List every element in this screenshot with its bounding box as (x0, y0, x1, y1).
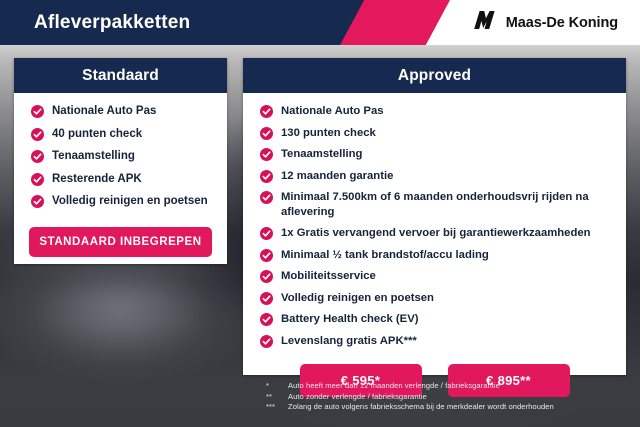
check-circle-icon (260, 292, 273, 305)
feature-label: Minimaal ½ tank brandstof/accu lading (281, 248, 489, 263)
package-title-standaard: Standaard (14, 58, 227, 93)
check-circle-icon (31, 128, 44, 141)
list-item: 130 punten check (260, 126, 616, 141)
feature-list-standaard: Nationale Auto Pas 40 punten check (14, 104, 227, 209)
list-item: Tenaamstelling (260, 147, 616, 162)
footnotes: * Auto heeft meer dan 12 maanden verleng… (266, 381, 636, 413)
list-item: Nationale Auto Pas (260, 104, 616, 119)
brand-logo: Maas-De Koning (471, 0, 618, 45)
footnote-triple-asterisk: *** Zolang de auto volgens fabrieksschem… (266, 402, 636, 413)
footnote-double-asterisk: ** Auto zonder verlengde / fabrieksgaran… (266, 392, 636, 403)
list-item: Levenslang gratis APK*** (260, 334, 616, 349)
feature-label: Battery Health check (EV) (281, 312, 419, 327)
footnote-marker: * (266, 381, 288, 392)
check-circle-icon (31, 173, 44, 186)
list-item: 40 punten check (31, 127, 217, 142)
footnote-single-asterisk: * Auto heeft meer dan 12 maanden verleng… (266, 381, 636, 392)
check-circle-icon (260, 313, 273, 326)
check-circle-icon (260, 170, 273, 183)
package-body-standaard: Nationale Auto Pas 40 punten check (14, 93, 227, 257)
feature-label: 130 punten check (281, 126, 376, 141)
list-item: Mobiliteitsservice (260, 269, 616, 284)
list-item: Minimaal 7.500km of 6 maanden onderhouds… (260, 190, 616, 219)
footnote-marker: *** (266, 402, 288, 413)
check-circle-icon (260, 270, 273, 283)
list-item: 1x Gratis vervangend vervoer bij garanti… (260, 226, 616, 241)
brand-name: Maas-De Koning (506, 15, 618, 31)
list-item: Minimaal ½ tank brandstof/accu lading (260, 248, 616, 263)
list-item: Tenaamstelling (31, 149, 217, 164)
check-circle-icon (260, 127, 273, 140)
list-item: Resterende APK (31, 172, 217, 187)
page-title: Afleverpakketten (34, 0, 190, 45)
list-item: Volledig reinigen en poetsen (260, 291, 616, 306)
check-circle-icon (260, 191, 273, 204)
check-circle-icon (260, 105, 273, 118)
feature-label: 40 punten check (52, 127, 142, 142)
footnote-text: Zolang de auto volgens fabrieksschema bi… (288, 402, 636, 413)
feature-label: Tenaamstelling (52, 149, 135, 164)
feature-label: Nationale Auto Pas (281, 104, 384, 119)
check-circle-icon (260, 227, 273, 240)
feature-label: Volledig reinigen en poetsen (52, 194, 208, 209)
package-title-approved: Approved (243, 58, 626, 93)
check-circle-icon (260, 249, 273, 262)
feature-label: Mobiliteitsservice (281, 269, 376, 284)
feature-label: Tenaamstelling (281, 147, 362, 162)
standaard-cta-wrap: STANDAARD INBEGREPEN (14, 217, 227, 257)
list-item: Battery Health check (EV) (260, 312, 616, 327)
standaard-inbegrepen-button[interactable]: STANDAARD INBEGREPEN (29, 227, 212, 257)
check-circle-icon (31, 150, 44, 163)
feature-label: 12 maanden garantie (281, 169, 393, 184)
package-card-approved: Approved Nationale Auto Pas (243, 58, 626, 375)
check-circle-icon (31, 195, 44, 208)
feature-label: 1x Gratis vervangend vervoer bij garanti… (281, 226, 591, 241)
footnote-marker: ** (266, 392, 288, 403)
package-card-standaard: Standaard Nationale Auto Pas (14, 58, 227, 264)
maas-de-koning-m-logo-icon (471, 10, 497, 35)
check-circle-icon (31, 105, 44, 118)
page-header: Afleverpakketten Maas-De Koning (0, 0, 640, 45)
feature-label: Minimaal 7.500km of 6 maanden onderhouds… (281, 190, 616, 219)
feature-list-approved: Nationale Auto Pas 130 punten check (243, 104, 626, 348)
feature-label: Levenslang gratis APK*** (281, 334, 417, 349)
list-item: Nationale Auto Pas (31, 104, 217, 119)
feature-label: Nationale Auto Pas (52, 104, 156, 119)
check-circle-icon (260, 148, 273, 161)
footnote-text: Auto zonder verlengde / fabrieksgarantie (288, 392, 636, 403)
list-item: 12 maanden garantie (260, 169, 616, 184)
feature-label: Resterende APK (52, 172, 142, 187)
afleverpakketten-screen: Afleverpakketten Maas-De Koning Standaar… (0, 0, 640, 427)
package-body-approved: Nationale Auto Pas 130 punten check (243, 93, 626, 397)
footnote-text: Auto heeft meer dan 12 maanden verlengde… (288, 381, 636, 392)
feature-label: Volledig reinigen en poetsen (281, 291, 434, 306)
background-highlight-blob (30, 270, 210, 360)
check-circle-icon (260, 335, 273, 348)
list-item: Volledig reinigen en poetsen (31, 194, 217, 209)
